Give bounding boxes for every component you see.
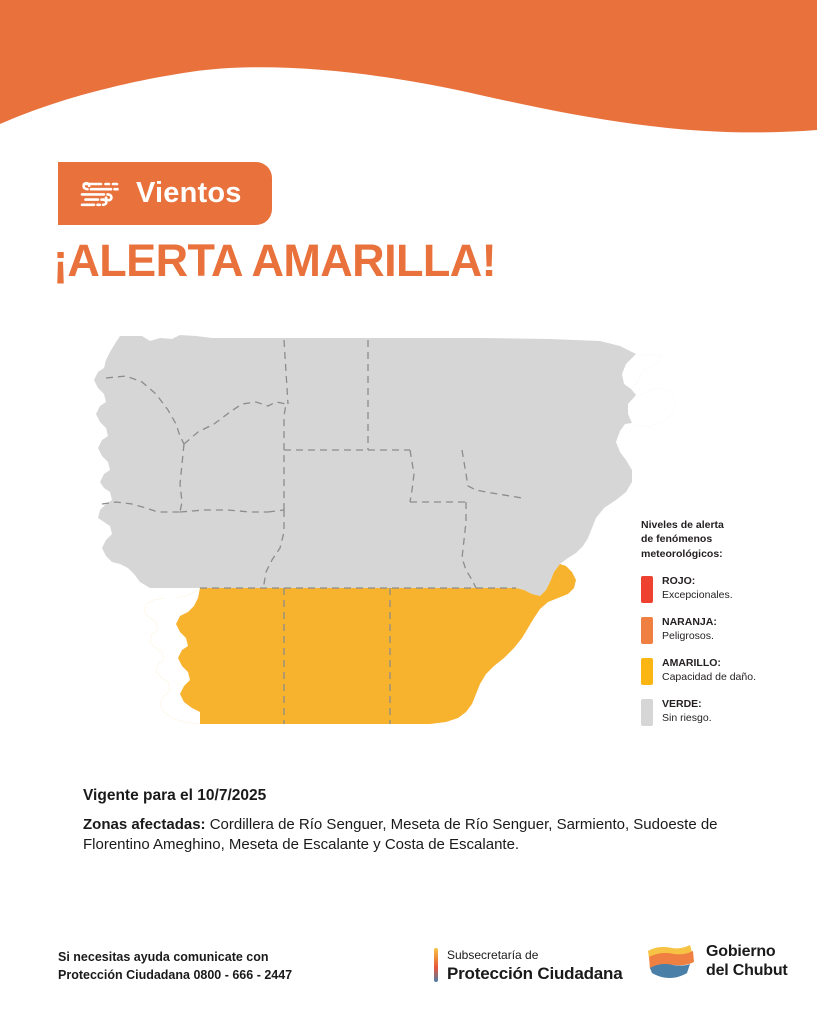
top-wave-decoration [0, 0, 817, 145]
chubut-alert-map [80, 332, 680, 752]
badge-label: Vientos [136, 179, 242, 208]
legend-name-amarillo: AMARILLO: [662, 657, 756, 670]
legend-desc-verde: Sin riesgo. [662, 712, 712, 725]
wind-icon [78, 177, 120, 211]
subsecretaria-bar-icon [434, 948, 438, 982]
gobierno-chubut-logo: Gobierno del Chubut [645, 942, 788, 982]
footer-contact: Si necesitas ayuda comunicate con Protec… [58, 949, 292, 985]
legend-desc-naranja: Peligrosos. [662, 630, 717, 643]
affected-zones-label: Zonas afectadas: [83, 816, 206, 833]
legend-title: Niveles de alerta de fenómenos meteoroló… [641, 518, 801, 561]
legend-item-verde: VERDE: Sin riesgo. [641, 698, 801, 726]
legend-name-rojo: ROJO: [662, 575, 733, 588]
map-svg [80, 332, 680, 752]
legend-swatch-verde [641, 699, 653, 726]
legend-item-naranja: NARANJA: Peligrosos. [641, 616, 801, 644]
page-title: ¡ALERTA AMARILLA! [53, 238, 496, 283]
legend-item-amarillo: AMARILLO: Capacidad de daño. [641, 657, 801, 685]
legend-swatch-rojo [641, 576, 653, 603]
gobierno-chubut-text: Gobierno del Chubut [706, 943, 788, 980]
map-region-no-risk [94, 335, 676, 596]
subsecretaria-line1: Subsecretaría de [447, 948, 538, 962]
legend-name-verde: VERDE: [662, 698, 712, 711]
alert-poster: Vientos ¡ALERTA AMARILLA! [0, 0, 817, 1024]
legend-swatch-amarillo [641, 658, 653, 685]
subsecretaria-line2: Protección Ciudadana [447, 964, 622, 983]
legend-name-naranja: NARANJA: [662, 616, 717, 629]
affected-zones: Zonas afectadas: Cordillera de Río Sengu… [83, 815, 763, 855]
validity-date: Vigente para el 10/7/2025 [83, 786, 763, 806]
legend-swatch-naranja [641, 617, 653, 644]
alert-details: Vigente para el 10/7/2025 Zonas afectada… [83, 786, 763, 855]
legend-item-rojo: ROJO: Excepcionales. [641, 575, 801, 603]
legend-desc-rojo: Excepcionales. [662, 589, 733, 602]
alert-category-badge: Vientos [58, 162, 272, 225]
chubut-province-mark-icon [645, 942, 697, 982]
legend: Niveles de alerta de fenómenos meteoroló… [641, 518, 801, 739]
subsecretaria-logo: Subsecretaría de Protección Ciudadana [434, 946, 622, 984]
legend-desc-amarillo: Capacidad de daño. [662, 671, 756, 684]
